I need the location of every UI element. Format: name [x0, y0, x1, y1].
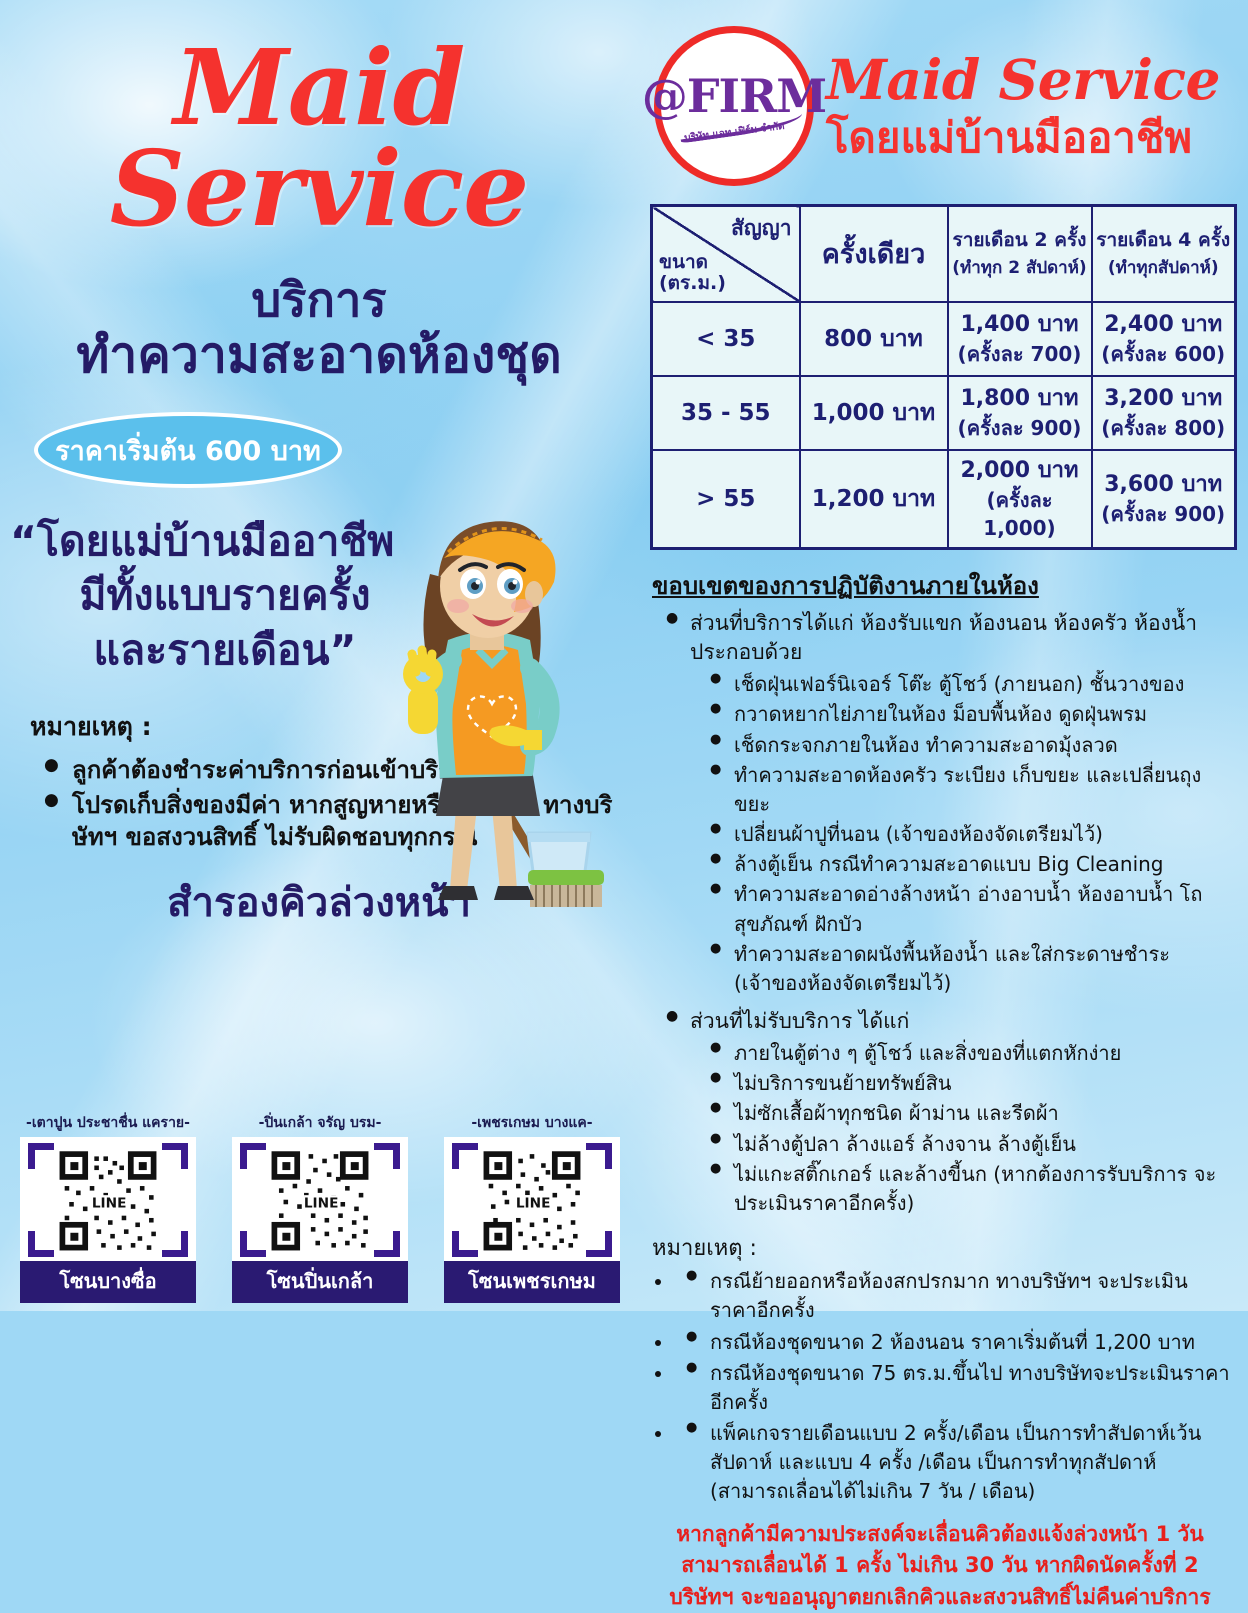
list-item: ส่วนที่บริการได้แก่ ห้องรับแขก ห้องนอน ห…	[654, 609, 1234, 669]
service-subheading: บริการ ทำความสะอาดห้องชุด	[0, 274, 638, 385]
qr-corner-icon	[586, 1231, 612, 1257]
list-item: ล้างตู้เย็น กรณีทำความสะอาดแบบ Big Clean…	[698, 850, 1234, 879]
cell-once-price: 1,200 บาท	[800, 450, 948, 549]
qr-corner-icon	[586, 1143, 612, 1169]
qr-zone-label: โซนปิ่นเกล้า	[232, 1261, 408, 1303]
qr-corner-icon	[374, 1231, 400, 1257]
cell-twice-price: 1,400 บาท (ครั้งละ 700)	[948, 302, 1092, 376]
warning-line-2: สามารถเลื่อนได้ 1 ครั้ง ไม่เกิน 30 วัน ห…	[646, 1550, 1234, 1582]
included-items-list: เช็ดฝุ่นเฟอร์นิเจอร์ โต๊ะ ตู้โชว์ (ภายนอ…	[646, 670, 1234, 998]
cell-twice-price: 1,800 บาท (ครั้งละ 900)	[948, 376, 1092, 450]
table-row: < 35 800 บาท 1,400 บาท (ครั้งละ 700) 2,4…	[652, 302, 1236, 376]
title-line-1: Maid	[0, 38, 638, 139]
table-corner-cell: สัญญา ขนาด (ตร.ม.)	[652, 206, 800, 302]
qr-card-phetkasem[interactable]: -เพชรเกษม บางแค-	[444, 1112, 620, 1303]
cell-twice-total: 1,400 บาท	[960, 312, 1078, 337]
qr-code-image[interactable]: LINE	[20, 1137, 196, 1261]
reschedule-warning: หากลูกค้ามีความประสงค์จะเลื่อนคิวต้องแจ้…	[646, 1519, 1234, 1613]
excluded-intro-list: ส่วนที่ไม่รับบริการ ได้แก่	[646, 1007, 1234, 1037]
list-item: กรณีห้องชุดขนาด 75 ตร.ม.ขึ้นไป ทางบริษัท…	[674, 1359, 1234, 1417]
maid-illustration	[352, 508, 620, 928]
list-item: เช็ดกระจกภายในห้อง ทำความสะอาดมุ้งลวด	[698, 731, 1234, 760]
cell-size: 35 - 55	[652, 376, 800, 450]
scope-section-title: ขอบเขตของการปฏิบัติงานภายในห้อง	[652, 566, 1234, 605]
brand-title-en: Maid Service	[826, 52, 1220, 107]
list-item: กรณีย้ายออกหรือห้องสกปรกมาก ทางบริษัทฯ จ…	[674, 1267, 1234, 1325]
list-item: ทำความสะอาดอ่างล้างหน้า อ่างอาบน้ำ ห้องอ…	[698, 880, 1234, 938]
brand-tagline-th: โดยแม่บ้านมืออาชีพ	[826, 115, 1220, 160]
column-header-once: ครั้งเดียว	[800, 206, 948, 302]
qr-corner-icon	[28, 1231, 54, 1257]
qr-area-label: -เตาปูน ประชาชื่น แคราย-	[20, 1112, 196, 1134]
list-item: ทำความสะอาดห้องครัว ระเบียง เก็บขยะ และเ…	[698, 761, 1234, 819]
subheading-line-1: บริการ	[0, 274, 638, 328]
flyer-page: Maid Service บริการ ทำความสะอาดห้องชุด ร…	[0, 0, 1248, 1311]
qr-code-row: -เตาปูน ประชาชื่น แคราย-	[20, 1112, 620, 1303]
table-row: > 55 1,200 บาท 2,000 บาท (ครั้งละ 1,000)…	[652, 450, 1236, 549]
excluded-items-list: ภายในตู้ต่าง ๆ ตู้โชว์ และสิ่งของที่แตกห…	[646, 1039, 1234, 1218]
column-header-twice: รายเดือน 2 ครั้ง (ทำทุก 2 สัปดาห์)	[948, 206, 1092, 302]
corner-size-line-2: (ตร.ม.)	[659, 272, 726, 294]
qr-card-bangsue[interactable]: -เตาปูน ประชาชื่น แคราย-	[20, 1112, 196, 1303]
column-header-four-sub: (ทำทุกสัปดาห์)	[1095, 255, 1233, 281]
right-notes-list: กรณีย้ายออกหรือห้องสกปรกมาก ทางบริษัทฯ จ…	[646, 1267, 1234, 1507]
qr-area-label: -ปิ่นเกล้า จรัญ บรม-	[232, 1112, 408, 1134]
qr-corner-icon	[374, 1143, 400, 1169]
list-item: เปลี่ยนผ้าปูที่นอน (เจ้าของห้องจัดเตรียม…	[698, 820, 1234, 849]
qr-zone-label: โซนเพชรเกษม	[444, 1261, 620, 1303]
cell-twice-total: 1,800 บาท	[960, 386, 1078, 411]
corner-size-line-1: ขนาด	[659, 251, 708, 273]
cell-twice-price: 2,000 บาท (ครั้งละ 1,000)	[948, 450, 1092, 549]
qr-center-text: LINE	[304, 1196, 339, 1212]
brand-header: @FIRM บริษัท แอท เฟิร์ม จำกัด Maid Servi…	[646, 0, 1234, 186]
included-intro-list: ส่วนที่บริการได้แก่ ห้องรับแขก ห้องนอน ห…	[646, 609, 1234, 669]
qr-card-pinklao[interactable]: -ปิ่นเกล้า จรัญ บรม-	[232, 1112, 408, 1303]
column-header-twice-main: รายเดือน 2 ครั้ง	[953, 229, 1087, 251]
cell-four-total: 3,600 บาท	[1104, 472, 1222, 497]
subheading-line-2: ทำความสะอาดห้องชุด	[0, 327, 638, 384]
column-header-twice-sub: (ทำทุก 2 สัปดาห์)	[951, 255, 1089, 281]
table-header-row: สัญญา ขนาด (ตร.ม.) ครั้งเดียว รายเดือน 2…	[652, 206, 1236, 302]
qr-corner-icon	[452, 1231, 478, 1257]
qr-corner-icon	[452, 1143, 478, 1169]
starting-price-badge: ราคาเริ่มต้น 600 บาท	[34, 412, 342, 488]
qr-center-text: LINE	[92, 1196, 127, 1212]
spacer	[646, 999, 1234, 1007]
cell-four-total: 3,200 บาท	[1104, 386, 1222, 411]
list-item: ไม่บริการขนย้ายทรัพย์สิน	[698, 1069, 1234, 1098]
list-item: กวาดหยากไย่ภายในห้อง ม็อบพื้นห้อง ดูดฝุ่…	[698, 700, 1234, 729]
cell-twice-total: 2,000 บาท	[960, 458, 1078, 483]
list-item: ภายในตู้ต่าง ๆ ตู้โชว์ และสิ่งของที่แตกห…	[698, 1039, 1234, 1068]
cell-four-price: 3,200 บาท (ครั้งละ 800)	[1092, 376, 1236, 450]
pricing-table: สัญญา ขนาด (ตร.ม.) ครั้งเดียว รายเดือน 2…	[650, 204, 1237, 550]
qr-corner-icon	[240, 1231, 266, 1257]
list-item: ไม่แกะสติ๊กเกอร์ และล้างขี้นก (หากต้องกา…	[698, 1160, 1234, 1218]
qr-center-text: LINE	[516, 1196, 551, 1212]
list-item: ส่วนที่ไม่รับบริการ ได้แก่	[654, 1007, 1234, 1037]
cell-twice-per: (ครั้งละ 1,000)	[949, 486, 1091, 543]
corner-size-label: ขนาด (ตร.ม.)	[659, 252, 726, 295]
table-row: 35 - 55 1,000 บาท 1,800 บาท (ครั้งละ 900…	[652, 376, 1236, 450]
list-item: เช็ดฝุ่นเฟอร์นิเจอร์ โต๊ะ ตู้โชว์ (ภายนอ…	[698, 670, 1234, 699]
cell-once-price: 1,000 บาท	[800, 376, 948, 450]
qr-corner-icon	[162, 1231, 188, 1257]
title-line-2: Service	[0, 139, 638, 240]
corner-contract-label: สัญญา	[731, 212, 791, 245]
company-logo: @FIRM บริษัท แอท เฟิร์ม จำกัด	[654, 26, 814, 186]
cell-four-per: (ครั้งละ 800)	[1093, 414, 1235, 442]
list-item: ไม่ล้างตู้ปลา ล้างแอร์ ล้างจาน ล้างตู้เย…	[698, 1130, 1234, 1159]
qr-corner-icon	[28, 1143, 54, 1169]
qr-corner-icon	[162, 1143, 188, 1169]
cell-four-per: (ครั้งละ 900)	[1093, 500, 1235, 528]
cell-twice-per: (ครั้งละ 900)	[949, 414, 1091, 442]
cell-four-per: (ครั้งละ 600)	[1093, 340, 1235, 368]
qr-code-image[interactable]: LINE	[232, 1137, 408, 1261]
page-title: Maid Service	[0, 0, 638, 240]
qr-code-image[interactable]: LINE	[444, 1137, 620, 1261]
brand-text: Maid Service โดยแม่บ้านมืออาชีพ	[826, 52, 1220, 160]
column-header-four-main: รายเดือน 4 ครั้ง	[1096, 229, 1230, 251]
column-header-four: รายเดือน 4 ครั้ง (ทำทุกสัปดาห์)	[1092, 206, 1236, 302]
list-item: กรณีห้องชุดขนาด 2 ห้องนอน ราคาเริ่มต้นที…	[674, 1328, 1234, 1357]
right-panel: @FIRM บริษัท แอท เฟิร์ม จำกัด Maid Servi…	[638, 0, 1248, 1311]
starting-price-label: ราคาเริ่มต้น 600 บาท	[55, 429, 321, 472]
warning-line-1: หากลูกค้ามีความประสงค์จะเลื่อนคิวต้องแจ้…	[646, 1519, 1234, 1551]
cell-twice-per: (ครั้งละ 700)	[949, 340, 1091, 368]
cell-size: < 35	[652, 302, 800, 376]
cell-once-price: 800 บาท	[800, 302, 948, 376]
qr-zone-label: โซนบางซื่อ	[20, 1261, 196, 1303]
qr-area-label: -เพชรเกษม บางแค-	[444, 1112, 620, 1134]
right-notes-heading: หมายเหตุ :	[652, 1230, 1234, 1265]
list-item: ไม่ซักเสื้อผ้าทุกชนิด ผ้าม่าน และรีดผ้า	[698, 1099, 1234, 1128]
list-item: ทำความสะอาดผนังพื้นห้องน้ำ และใส่กระดาษช…	[698, 940, 1234, 998]
warning-line-3: บริษัทฯ จะขออนุญาตยกเลิกคิวและสงวนสิทธิ์…	[646, 1582, 1234, 1613]
cell-four-price: 2,400 บาท (ครั้งละ 600)	[1092, 302, 1236, 376]
cell-four-total: 2,400 บาท	[1104, 312, 1222, 337]
left-panel: Maid Service บริการ ทำความสะอาดห้องชุด ร…	[0, 0, 638, 1311]
cell-four-price: 3,600 บาท (ครั้งละ 900)	[1092, 450, 1236, 549]
cell-size: > 55	[652, 450, 800, 549]
qr-corner-icon	[240, 1143, 266, 1169]
list-item: แพ็คเกจรายเดือนแบบ 2 ครั้ง/เดือน เป็นการ…	[674, 1419, 1234, 1507]
